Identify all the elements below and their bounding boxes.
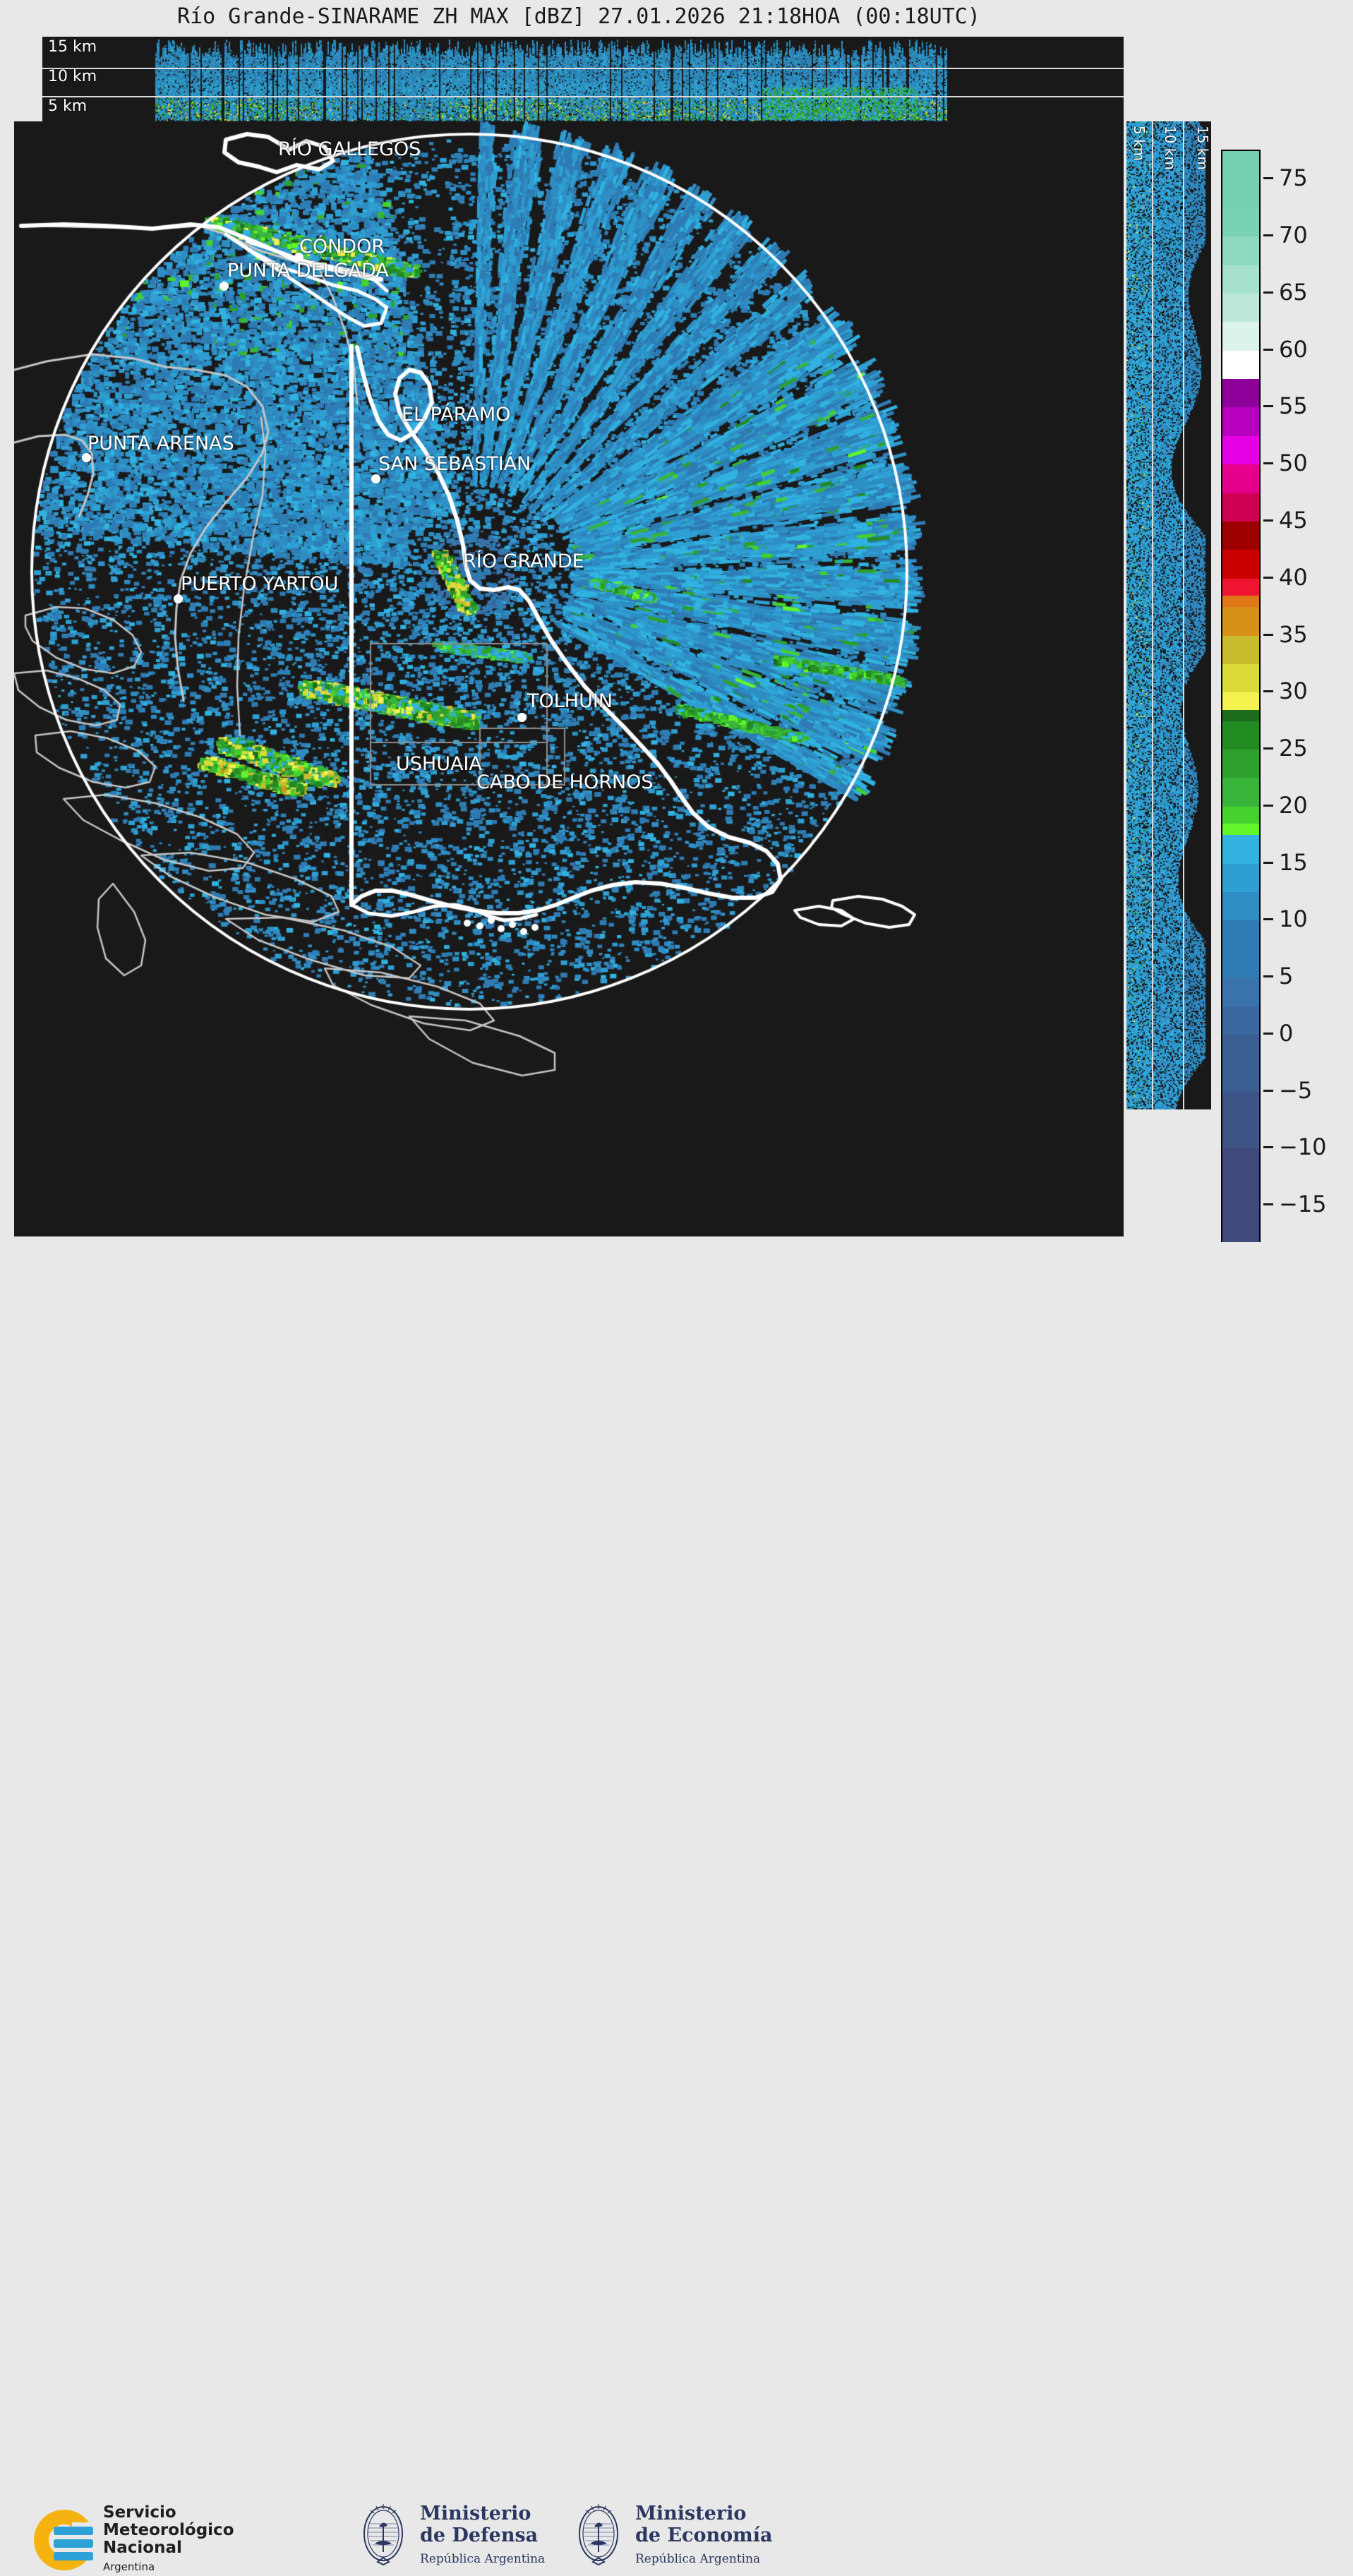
cross-section-top-canvas: [42, 37, 1124, 121]
city-label: RÍO GALLEGOS: [278, 138, 421, 160]
colorbar-segment: [1222, 1092, 1259, 1149]
colorbar-segment: [1222, 351, 1259, 379]
cross-section-right-canvas: [1126, 121, 1211, 1109]
ministerio-economia-logo: Ministerio de Economía República Argenti…: [572, 2503, 772, 2570]
mineco-line-2: de Economía: [635, 2524, 772, 2546]
colorbar-segment: [1222, 1006, 1259, 1035]
colorbar-tick-labels: 757065605550454035302520151050−5−10−15: [1261, 150, 1348, 1261]
colorbar-segment: [1222, 579, 1259, 596]
mineco-line-1: Ministerio: [635, 2503, 772, 2524]
radar-reflectivity-canvas: [14, 121, 1124, 1236]
mindef-line-2: de Defensa: [420, 2524, 545, 2546]
colorbar-segment: [1222, 236, 1259, 265]
smn-mark-icon: [34, 2510, 95, 2570]
mineco-line-3: República Argentina: [635, 2548, 772, 2570]
argentina-coat-of-arms-icon: [572, 2503, 625, 2570]
gridline-5km-vertical: [1152, 121, 1153, 1109]
cross-section-right-panel: 5 km 10 km 15 km: [1126, 121, 1211, 1109]
colorbar-segment: [1222, 778, 1259, 806]
colorbar-segment: [1222, 1035, 1259, 1092]
colorbar-segment: [1222, 294, 1259, 322]
colorbar-segment: [1222, 208, 1259, 236]
colorbar-segment: [1222, 692, 1259, 709]
mindef-line-3: República Argentina: [420, 2548, 545, 2570]
colorbar-segment: [1222, 721, 1259, 750]
footer-bar: Servicio Meteorológico Nacional Argentin…: [0, 1242, 1353, 1347]
city-marker-dot: [220, 282, 229, 291]
gridline-10km: [42, 96, 1124, 97]
colorbar: 757065605550454035302520151050−5−10−15: [1221, 150, 1348, 1261]
cross-section-top-panel: 15 km 10 km 5 km: [42, 37, 1124, 121]
altitude-label-5km-vertical: 5 km: [1131, 126, 1148, 161]
colorbar-segment: [1222, 265, 1259, 294]
argentina-coat-of-arms-icon: [356, 2503, 410, 2570]
colorbar-segment: [1222, 835, 1259, 863]
colorbar-segment: [1222, 977, 1259, 1006]
colorbar-segment: [1222, 522, 1259, 550]
city-label: CABO DE HORNOS: [476, 771, 654, 793]
smn-line-3: Nacional: [103, 2539, 234, 2557]
colorbar-segment: [1222, 407, 1259, 435]
altitude-label-15km: 15 km: [48, 38, 97, 56]
colorbar-segment: [1222, 636, 1259, 664]
gridline-10km-vertical: [1183, 121, 1184, 1109]
colorbar-segment: [1222, 750, 1259, 778]
colorbar-gradient: [1221, 150, 1261, 1261]
gridline-15km: [42, 68, 1124, 69]
city-label: TOLHUIN: [527, 690, 613, 712]
smn-line-4: Argentina: [103, 2558, 234, 2576]
colorbar-segment: [1222, 464, 1259, 493]
city-label: EL PÁRAMO: [402, 404, 510, 426]
city-label: PUNTA ARENAS: [88, 433, 234, 455]
smn-logo: Servicio Meteorológico Nacional Argentin…: [34, 2504, 234, 2576]
altitude-label-10km: 10 km: [48, 68, 97, 85]
city-marker-dot: [371, 474, 380, 483]
colorbar-segment: [1222, 920, 1259, 977]
colorbar-segment: [1222, 379, 1259, 407]
colorbar-segment: [1222, 607, 1259, 635]
colorbar-segment: [1222, 892, 1259, 920]
city-label: PUERTO YARTOU: [181, 573, 338, 595]
smn-line-1: Servicio: [103, 2504, 234, 2522]
city-label: USHUAIA: [396, 753, 482, 775]
ministerio-defensa-logo: Ministerio de Defensa República Argentin…: [356, 2503, 545, 2570]
city-label: PUNTA DELGADA: [227, 260, 389, 282]
radar-map-panel[interactable]: RÍO GALLEGOSCÓNDORPUNTA DELGADAEL PÁRAMO…: [14, 121, 1124, 1236]
city-label: CÓNDOR: [299, 236, 385, 258]
smn-line-2: Meteorológico: [103, 2522, 234, 2539]
colorbar-segment: [1222, 493, 1259, 522]
colorbar-segment: [1222, 596, 1259, 607]
altitude-label-15km-vertical: 15 km: [1194, 126, 1211, 170]
colorbar-segment: [1222, 864, 1259, 892]
colorbar-segment: [1222, 550, 1259, 578]
colorbar-segment: [1222, 710, 1259, 721]
colorbar-segment: [1222, 151, 1259, 208]
mindef-line-1: Ministerio: [420, 2503, 545, 2524]
city-marker-dot: [174, 594, 183, 603]
page-title: Río Grande-SINARAME ZH MAX [dBZ] 27.01.2…: [0, 4, 1157, 29]
altitude-label-5km: 5 km: [48, 97, 87, 115]
colorbar-segment: [1222, 664, 1259, 692]
city-label: RÍO GRANDE: [463, 550, 584, 572]
city-label: SAN SEBASTIÁN: [378, 453, 531, 475]
colorbar-segment: [1222, 436, 1259, 464]
colorbar-segment: [1222, 824, 1259, 835]
altitude-label-10km-vertical: 10 km: [1162, 126, 1179, 170]
colorbar-segment: [1222, 322, 1259, 350]
city-marker-dot: [517, 713, 527, 722]
colorbar-segment: [1222, 807, 1259, 824]
